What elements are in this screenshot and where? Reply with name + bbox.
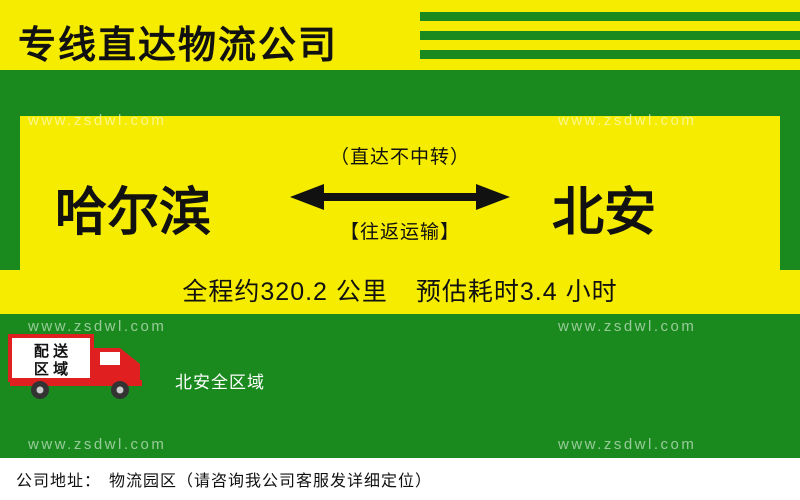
stripe-2 [420, 31, 800, 40]
notch-chevron [0, 70, 800, 116]
footer-bar: 公司地址： 物流园区（请咨询我公司客服发详细定位） [0, 458, 800, 500]
distance-text: 全程约320.2 公里 [182, 278, 388, 306]
route-direct-note: （直达不中转） [300, 142, 500, 169]
watermark: www.zsdwl.com [558, 112, 696, 129]
origin-city: 哈尔滨 [55, 170, 211, 245]
route-arrow [290, 182, 510, 212]
duration-text: 预估耗时3.4 小时 [416, 278, 618, 306]
logistics-banner: 专线直达物流公司 www.zsdwl.com www.zsdwl.com www… [0, 0, 800, 500]
stripe-3 [420, 50, 800, 59]
notch-band [0, 70, 800, 116]
truck-icon: 配 送 区 域 [8, 332, 168, 400]
route-roundtrip-note: 【往返运输】 [300, 217, 500, 244]
page-title: 专线直达物流公司 [18, 14, 338, 69]
stripe-1 [420, 12, 800, 21]
watermark: www.zsdwl.com [28, 112, 166, 129]
svg-text:区 域: 区 域 [34, 360, 68, 378]
stats-text: 全程约320.2 公里预估耗时3.4 小时 [0, 272, 800, 308]
header-stripes [420, 0, 800, 70]
footer-address-label: 公司地址： [16, 467, 101, 491]
watermark: www.zsdwl.com [558, 436, 696, 453]
svg-text:配 送: 配 送 [34, 342, 69, 360]
destination-city: 北安 [552, 170, 656, 245]
footer-address-value: 物流园区（请咨询我公司客服发详细定位） [109, 467, 432, 491]
watermark: www.zsdwl.com [28, 436, 166, 453]
header-band: 专线直达物流公司 [0, 0, 800, 70]
delivery-zone-label: 北安全区域 [175, 368, 265, 393]
watermark: www.zsdwl.com [558, 318, 696, 335]
